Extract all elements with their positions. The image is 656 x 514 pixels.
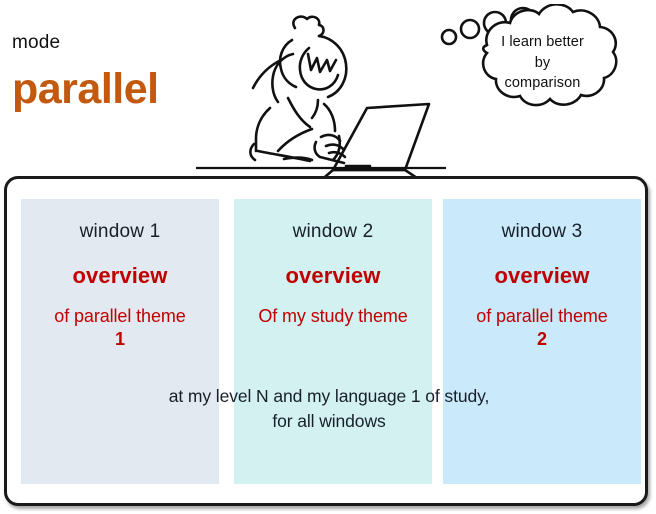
theme-text-1: of parallel theme 1 xyxy=(21,305,219,351)
windows-panel: window 1 overview of parallel theme 1 wi… xyxy=(4,176,648,506)
overview-label-3: overview xyxy=(443,263,641,289)
overview-label-2: overview xyxy=(234,263,432,289)
mode-label: mode xyxy=(12,32,60,54)
window-label-2: window 2 xyxy=(234,221,432,243)
theme-number-1: 1 xyxy=(25,328,215,351)
mode-value: parallel xyxy=(12,68,159,111)
bubble-line-3: comparison xyxy=(470,73,615,94)
theme-description-2: Of my study theme xyxy=(258,306,407,326)
window-column-2[interactable]: window 2 overview Of my study theme xyxy=(234,199,432,484)
bubble-line-2: by xyxy=(470,53,615,74)
theme-description-3: of parallel theme xyxy=(476,306,607,326)
theme-text-3: of parallel theme 2 xyxy=(443,305,641,351)
thought-bubble-text: I learn better by comparison xyxy=(470,32,615,94)
window-label-1: window 1 xyxy=(21,221,219,243)
theme-number-3: 2 xyxy=(447,328,637,351)
bubble-line-1: I learn better xyxy=(470,32,615,53)
window-column-1[interactable]: window 1 overview of parallel theme 1 xyxy=(21,199,219,484)
theme-text-2: Of my study theme xyxy=(234,305,432,328)
overview-label-1: overview xyxy=(21,263,219,289)
theme-description-1: of parallel theme xyxy=(54,306,185,326)
window-column-3[interactable]: window 3 overview of parallel theme 2 xyxy=(443,199,641,484)
person-studying-at-laptop-icon xyxy=(196,0,446,176)
header: mode parallel xyxy=(0,0,656,175)
window-label-3: window 3 xyxy=(443,221,641,243)
